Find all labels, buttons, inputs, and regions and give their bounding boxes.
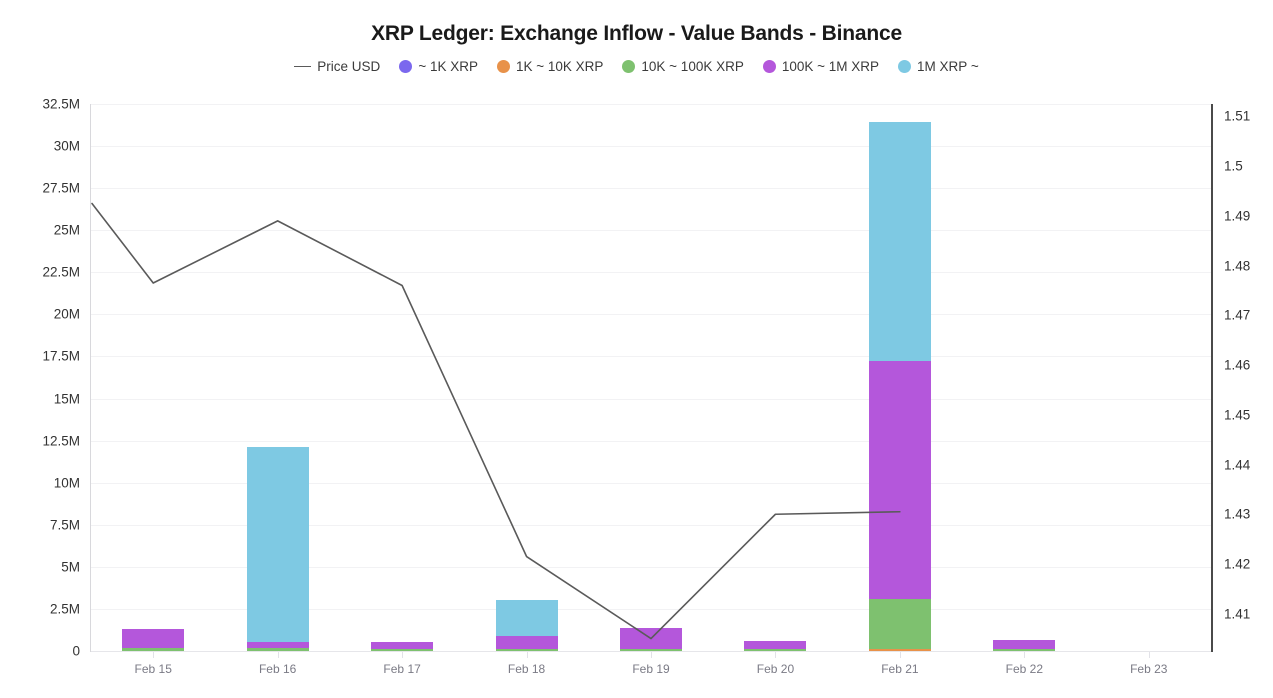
legend-item-100k-1m-xrp[interactable]: 100K ~ 1M XRP xyxy=(763,59,879,74)
bar-segment[interactable] xyxy=(993,649,1055,651)
x-axis-tick-label: Feb 16 xyxy=(259,662,296,676)
gridline xyxy=(91,188,1211,189)
x-axis-tick-label: Feb 17 xyxy=(383,662,420,676)
bar-feb-22[interactable] xyxy=(993,640,1055,651)
gridline xyxy=(91,146,1211,147)
left-axis-tick-label: 5M xyxy=(61,559,80,574)
gridline xyxy=(91,230,1211,231)
right-axis-tick-label: 1.43 xyxy=(1224,507,1250,522)
x-axis-tick-mark xyxy=(153,652,154,658)
bar-feb-17[interactable] xyxy=(371,642,433,651)
x-axis-tick-label: Feb 23 xyxy=(1130,662,1167,676)
bar-segment[interactable] xyxy=(496,600,558,636)
legend-item-label: 100K ~ 1M XRP xyxy=(782,59,879,74)
bar-feb-18[interactable] xyxy=(496,600,558,651)
right-axis-tick-label: 1.45 xyxy=(1224,407,1250,422)
bar-segment[interactable] xyxy=(620,628,682,649)
bar-segment[interactable] xyxy=(371,649,433,651)
left-axis-tick-label: 15M xyxy=(54,391,80,406)
gridline xyxy=(91,272,1211,273)
x-axis-tick-mark xyxy=(651,652,652,658)
legend-item-1k-10k-xrp[interactable]: 1K ~ 10K XRP xyxy=(497,59,603,74)
x-axis-tick-mark xyxy=(402,652,403,658)
legend-item-label: 1M XRP ~ xyxy=(917,59,979,74)
bar-segment[interactable] xyxy=(122,648,184,651)
left-axis-tick-label: 27.5M xyxy=(42,181,80,196)
x-axis-tick-mark xyxy=(278,652,279,658)
bar-segment[interactable] xyxy=(620,649,682,651)
x-axis-tick-mark xyxy=(1024,652,1025,658)
right-axis-tick-label: 1.5 xyxy=(1224,159,1243,174)
bar-segment[interactable] xyxy=(247,447,309,641)
right-axis-tick-label: 1.47 xyxy=(1224,308,1250,323)
gridline xyxy=(91,441,1211,442)
right-axis-tick-label: 1.49 xyxy=(1224,208,1250,223)
bar-feb-21[interactable] xyxy=(869,122,931,651)
x-axis-tick-label: Feb 20 xyxy=(757,662,794,676)
bar-segment[interactable] xyxy=(744,641,806,649)
bar-feb-15[interactable] xyxy=(122,629,184,651)
left-axis-tick-label: 22.5M xyxy=(42,265,80,280)
bar-segment[interactable] xyxy=(869,649,931,651)
left-axis-tick-label: 10M xyxy=(54,475,80,490)
legend-item-10k-100k-xrp[interactable]: 10K ~ 100K XRP xyxy=(622,59,743,74)
x-axis-tick-mark xyxy=(900,652,901,658)
gridline xyxy=(91,356,1211,357)
bar-feb-16[interactable] xyxy=(247,447,309,651)
x-axis-tick-mark xyxy=(775,652,776,658)
left-axis-tick-label: 7.5M xyxy=(50,517,80,532)
x-axis-tick-label: Feb 21 xyxy=(881,662,918,676)
x-axis-tick-label: Feb 15 xyxy=(135,662,172,676)
legend-line-icon xyxy=(294,66,311,67)
bar-segment[interactable] xyxy=(993,640,1055,649)
right-axis-line xyxy=(1211,104,1213,652)
bar-feb-20[interactable] xyxy=(744,641,806,651)
bar-segment[interactable] xyxy=(496,636,558,649)
chart-container: XRP Ledger: Exchange Inflow - Value Band… xyxy=(0,0,1273,698)
plot-area xyxy=(91,104,1211,651)
left-axis-tick-label: 0 xyxy=(72,644,80,659)
left-axis-tick-label: 25M xyxy=(54,223,80,238)
left-axis-tick-label: 12.5M xyxy=(42,433,80,448)
legend-item-label: Price USD xyxy=(317,59,380,74)
legend-item-1m-xrp[interactable]: 1M XRP ~ xyxy=(898,59,979,74)
x-axis-tick-mark xyxy=(1149,652,1150,658)
chart-legend: Price USD~ 1K XRP1K ~ 10K XRP10K ~ 100K … xyxy=(0,59,1273,74)
bar-segment[interactable] xyxy=(122,629,184,648)
right-axis-tick-label: 1.51 xyxy=(1224,109,1250,124)
left-axis-tick-label: 17.5M xyxy=(42,349,80,364)
legend-item-label: ~ 1K XRP xyxy=(418,59,478,74)
right-axis-tick-label: 1.48 xyxy=(1224,258,1250,273)
legend-dot-icon xyxy=(622,60,635,73)
bar-segment[interactable] xyxy=(744,649,806,651)
x-axis-tick-label: Feb 22 xyxy=(1006,662,1043,676)
bar-feb-19[interactable] xyxy=(620,628,682,651)
left-axis-tick-label: 2.5M xyxy=(50,601,80,616)
price-usd-line xyxy=(92,203,900,638)
right-axis-tick-label: 1.46 xyxy=(1224,358,1250,373)
legend-item-1k-xrp[interactable]: ~ 1K XRP xyxy=(399,59,478,74)
legend-dot-icon xyxy=(399,60,412,73)
legend-item-label: 1K ~ 10K XRP xyxy=(516,59,603,74)
legend-dot-icon xyxy=(763,60,776,73)
right-axis-tick-label: 1.41 xyxy=(1224,606,1250,621)
gridline xyxy=(91,399,1211,400)
right-axis-tick-label: 1.42 xyxy=(1224,556,1250,571)
bar-segment[interactable] xyxy=(869,122,931,361)
x-axis-tick-label: Feb 18 xyxy=(508,662,545,676)
chart-title: XRP Ledger: Exchange Inflow - Value Band… xyxy=(0,22,1273,46)
bar-segment[interactable] xyxy=(247,648,309,651)
legend-item-label: 10K ~ 100K XRP xyxy=(641,59,743,74)
right-axis-tick-label: 1.44 xyxy=(1224,457,1250,472)
left-axis-tick-label: 30M xyxy=(54,139,80,154)
legend-dot-icon xyxy=(497,60,510,73)
left-axis-tick-label: 32.5M xyxy=(42,97,80,112)
left-axis-tick-label: 20M xyxy=(54,307,80,322)
legend-dot-icon xyxy=(898,60,911,73)
bar-segment[interactable] xyxy=(496,649,558,651)
bar-segment[interactable] xyxy=(869,599,931,649)
legend-item-price-usd[interactable]: Price USD xyxy=(294,59,380,74)
x-axis-tick-label: Feb 19 xyxy=(632,662,669,676)
bar-segment[interactable] xyxy=(869,361,931,598)
gridline xyxy=(91,314,1211,315)
x-axis-tick-mark xyxy=(527,652,528,658)
bar-segment[interactable] xyxy=(247,642,309,649)
gridline xyxy=(91,104,1211,105)
